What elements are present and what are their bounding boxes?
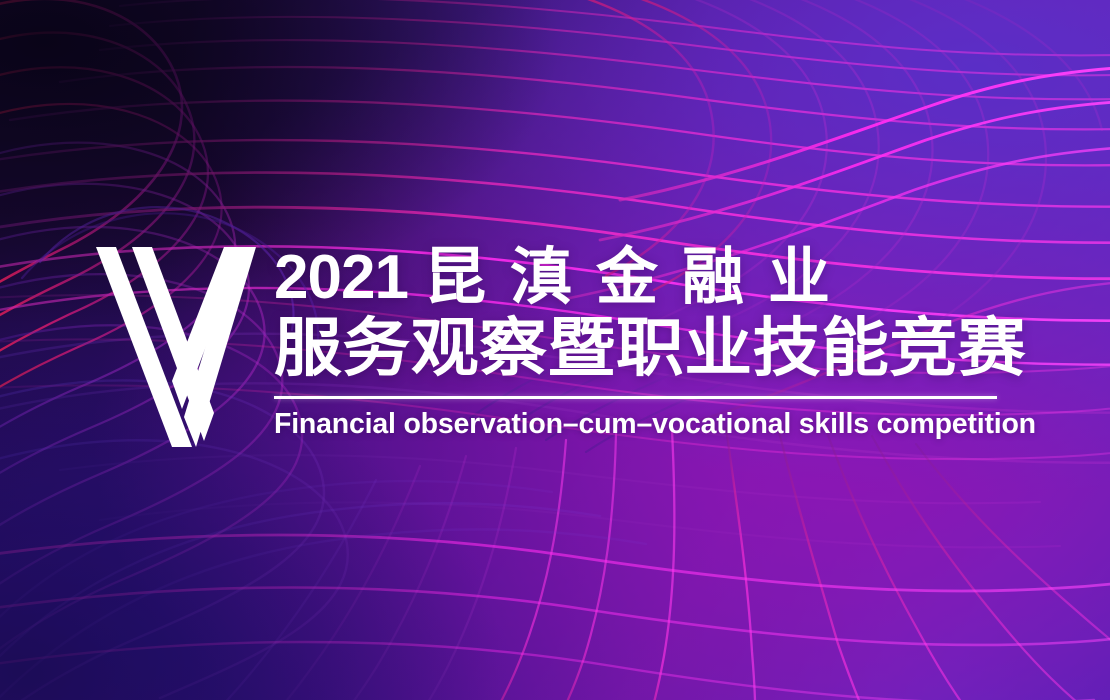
subtitle-english: Financial observation–cum–vocational ski… (274, 408, 1036, 440)
poster-content: 2021昆滇金融业 服务观察暨职业技能竞赛 Financial observat… (0, 0, 1110, 700)
title-block: 2021昆滇金融业 服务观察暨职业技能竞赛 Financial observat… (274, 243, 1036, 440)
title-year: 2021 (274, 243, 408, 312)
title-lockup: 2021昆滇金融业 服务观察暨职业技能竞赛 Financial observat… (96, 243, 1036, 447)
title-divider-rule (274, 396, 997, 399)
title-line-two: 服务观察暨职业技能竞赛 (274, 312, 1082, 386)
title-line-one: 2021昆滇金融业 (274, 243, 1036, 312)
w-monogram-logo (96, 247, 262, 447)
title-line-one-cn: 昆滇金融业 (424, 240, 854, 313)
poster-banner: 2021昆滇金融业 服务观察暨职业技能竞赛 Financial observat… (0, 0, 1110, 700)
